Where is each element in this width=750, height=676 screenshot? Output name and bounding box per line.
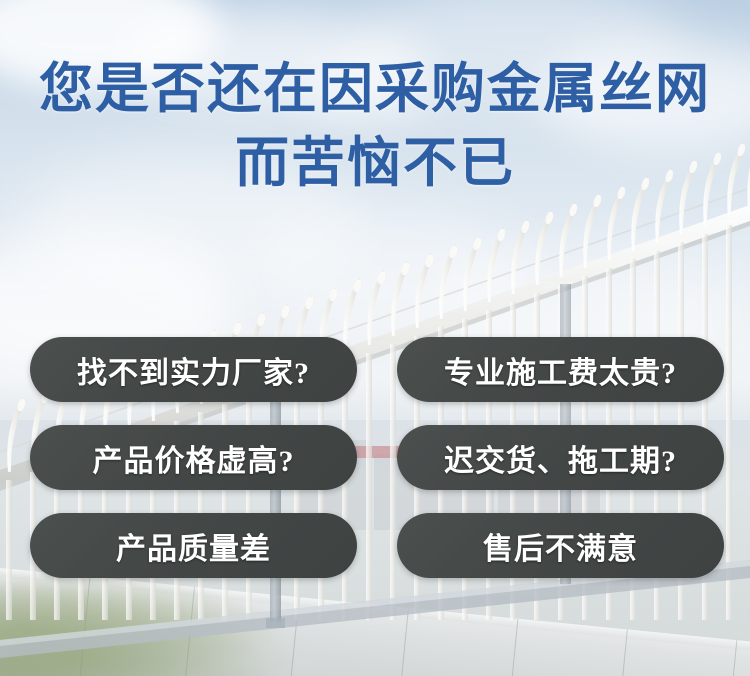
pill-construction-fee-expensive[interactable]: 专业施工费太贵? [397, 337, 724, 402]
pill-bad-after-sales[interactable]: 售后不满意 [397, 513, 724, 578]
pill-find-no-strong-factory[interactable]: 找不到实力厂家? [30, 337, 357, 402]
pill-late-delivery[interactable]: 迟交货、拖工期? [397, 425, 724, 490]
headline-line-2: 而苦恼不已 [0, 126, 750, 200]
pill-price-inflated[interactable]: 产品价格虚高? [30, 425, 357, 490]
pill-row: 找不到实力厂家? 专业施工费太贵? [30, 337, 724, 402]
banner-stage: 您是否还在因采购金属丝网 而苦恼不已 找不到实力厂家? 专业施工费太贵? 产品价… [0, 0, 750, 676]
pain-point-grid: 找不到实力厂家? 专业施工费太贵? 产品价格虚高? 迟交货、拖工期? 产品质量差… [30, 337, 724, 578]
pill-row: 产品质量差 售后不满意 [30, 513, 724, 578]
pill-row: 产品价格虚高? 迟交货、拖工期? [30, 425, 724, 490]
banner-headline: 您是否还在因采购金属丝网 而苦恼不已 [0, 52, 750, 200]
pill-poor-quality[interactable]: 产品质量差 [30, 513, 357, 578]
headline-line-1: 您是否还在因采购金属丝网 [0, 52, 750, 126]
